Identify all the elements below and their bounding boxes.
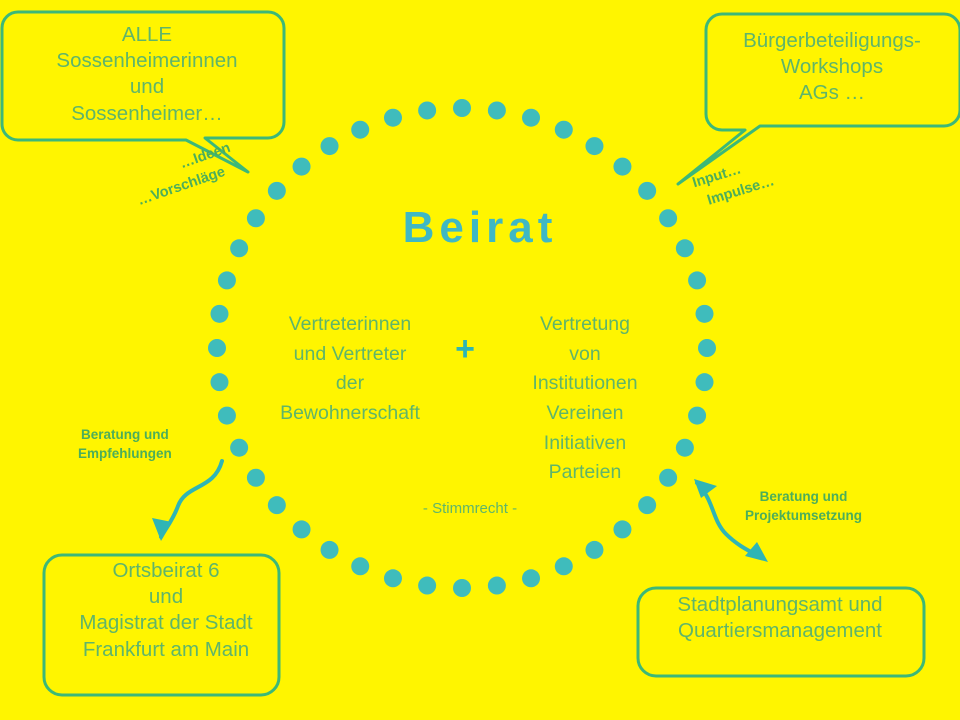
annotation-line: Empfehlungen xyxy=(78,444,172,463)
annotation-beratung-projektumsetzung: Beratung und Projektumsetzung xyxy=(745,487,862,525)
center-line: Parteien xyxy=(490,458,680,488)
center-footnote: - Stimmrecht - xyxy=(330,500,610,517)
ring-dot xyxy=(208,339,226,357)
ring-dot xyxy=(613,520,631,538)
ring-dot xyxy=(522,109,540,127)
center-line: und Vertreter xyxy=(255,340,445,370)
ring-dot xyxy=(321,541,339,559)
center-line: Bewohnerschaft xyxy=(255,399,445,429)
ring-dot xyxy=(698,339,716,357)
ring-dot xyxy=(293,520,311,538)
ring-dot xyxy=(555,557,573,575)
ring-dot xyxy=(522,569,540,587)
annotation-line: Projektumsetzung xyxy=(745,506,862,525)
ring-dot xyxy=(384,569,402,587)
ring-dot xyxy=(351,557,369,575)
ring-dot xyxy=(488,577,506,595)
annotation-line: Beratung und xyxy=(745,487,862,506)
ring-dot xyxy=(613,158,631,176)
ring-dot xyxy=(351,121,369,139)
box-ortsbeirat-shape[interactable] xyxy=(44,555,279,695)
center-line: der xyxy=(255,369,445,399)
ring-dot xyxy=(268,496,286,514)
center-column-left: Vertreterinnen und Vertreter der Bewohne… xyxy=(255,310,445,429)
arrow-beratung-empfehlungen xyxy=(152,461,222,541)
ring-dot xyxy=(247,469,265,487)
ring-dot xyxy=(696,373,714,391)
ring-dot xyxy=(688,407,706,425)
ring-dot xyxy=(696,305,714,323)
callout-buergerbeteiligung-shape[interactable] xyxy=(678,14,960,184)
ring-dot xyxy=(585,137,603,155)
ring-dot xyxy=(488,101,506,119)
ring-dot xyxy=(418,101,436,119)
ring-dot xyxy=(321,137,339,155)
ring-dot xyxy=(210,305,228,323)
plus-icon: + xyxy=(440,330,490,369)
center-line: Institutionen xyxy=(490,369,680,399)
ring-dot xyxy=(638,182,656,200)
ring-dot xyxy=(230,439,248,457)
callout-alle-sossenheimer-shape[interactable] xyxy=(2,12,284,172)
center-column-right: Vertretung von Institutionen Vereinen In… xyxy=(490,310,680,488)
ring-dot xyxy=(210,373,228,391)
annotation-line: Beratung und xyxy=(78,425,172,444)
diagram-canvas: ALLE Sossenheimerinnen und Sossenheimer…… xyxy=(0,0,960,720)
center-line: Vertreterinnen xyxy=(255,310,445,340)
center-line: von xyxy=(490,340,680,370)
ring-dot xyxy=(218,407,236,425)
ring-dot xyxy=(638,496,656,514)
center-line: Vereinen xyxy=(490,399,680,429)
ring-dot xyxy=(585,541,603,559)
box-stadtplanungsamt-shape[interactable] xyxy=(638,588,924,676)
ring-dot xyxy=(218,271,236,289)
center-line: Vertretung xyxy=(490,310,680,340)
ring-dot xyxy=(268,182,286,200)
annotation-beratung-empfehlungen: Beratung und Empfehlungen xyxy=(78,425,172,463)
ring-dot xyxy=(384,109,402,127)
ring-dot xyxy=(688,271,706,289)
ring-dot xyxy=(453,99,471,117)
center-line: Initiativen xyxy=(490,429,680,459)
ring-dot xyxy=(293,158,311,176)
ring-dot xyxy=(418,577,436,595)
ring-dot xyxy=(453,579,471,597)
ring-dot xyxy=(555,121,573,139)
